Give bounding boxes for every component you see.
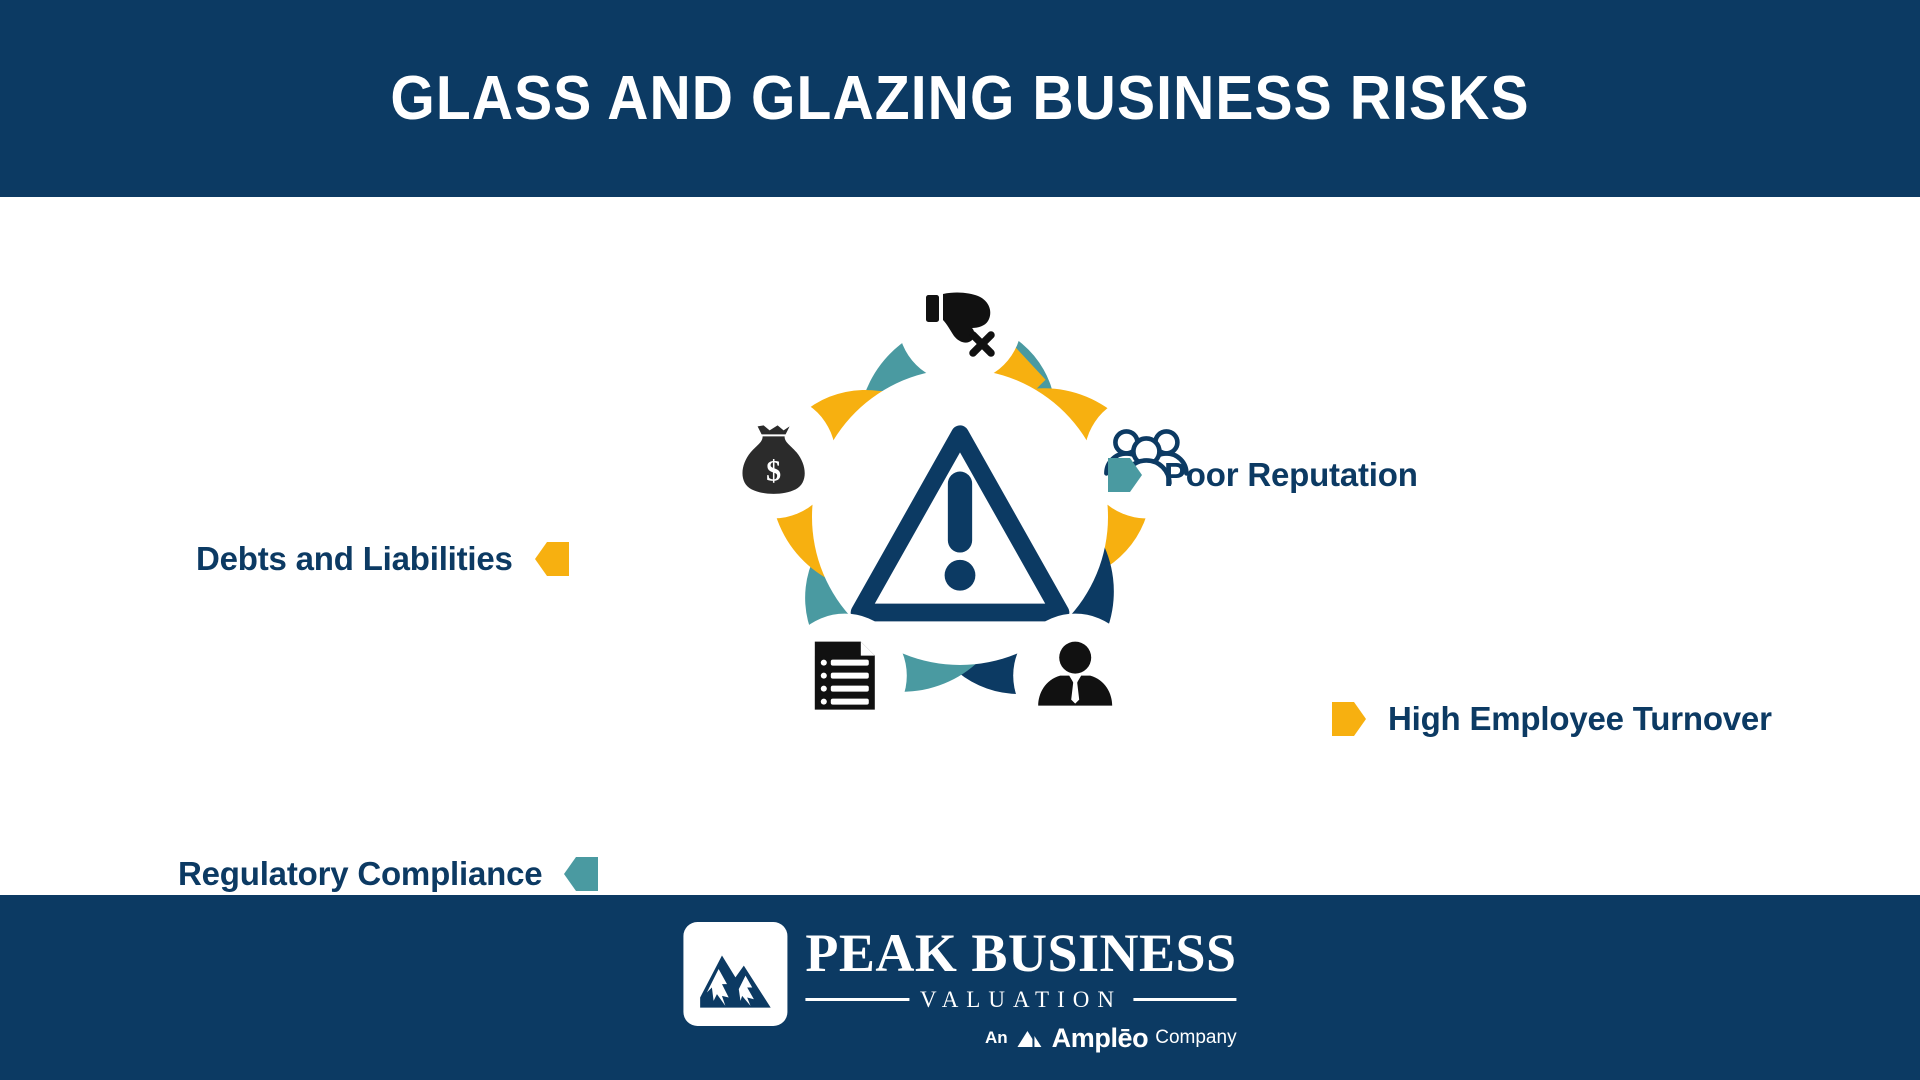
ampleo-row: An Amplēo Company — [805, 1023, 1236, 1054]
checklist-document-icon — [815, 642, 875, 710]
brand-sub: VALUATION — [920, 987, 1122, 1013]
logo-text-block: PEAK BUSINESS VALUATION An Amplēo Compan… — [805, 922, 1236, 1054]
label-turnover-text: High Employee Turnover — [1388, 697, 1772, 741]
marker-left-yellow-icon — [535, 540, 569, 578]
infographic-page: GLASS AND GLAZING BUSINESS RISKS — [0, 0, 1920, 1080]
diagram-stage: $ Debts and Liabilities Regulatory Compl… — [0, 197, 1920, 895]
risk-wheel-diagram: $ — [630, 187, 1290, 847]
ampleo-triangle-icon — [1015, 1026, 1045, 1050]
brand-sub-row: VALUATION — [805, 987, 1236, 1013]
ampleo-name: Amplēo — [1052, 1023, 1149, 1054]
label-high-employee-turnover[interactable]: High Employee Turnover — [1332, 697, 1772, 741]
label-regulatory-compliance[interactable]: Regulatory Compliance — [178, 852, 598, 896]
marker-left-teal-icon — [564, 855, 598, 893]
rule-right — [1133, 998, 1237, 1001]
footer-bar: PEAK BUSINESS VALUATION An Amplēo Compan… — [0, 895, 1920, 1080]
node-circle-project-delays — [1013, 614, 1137, 738]
label-debts-text: Debts and Liabilities — [196, 537, 513, 581]
ampleo-company-text: Company — [1155, 1027, 1236, 1049]
marker-right-yellow-icon — [1332, 700, 1366, 738]
label-debts-and-liabilities[interactable]: Debts and Liabilities — [196, 537, 569, 581]
ampleo-an-text: An — [985, 1028, 1008, 1048]
svg-text:$: $ — [766, 454, 781, 487]
rule-left — [805, 998, 909, 1001]
label-poor-reputation[interactable]: Poor Reputation — [1108, 453, 1418, 497]
page-title: GLASS AND GLAZING BUSINESS RISKS — [77, 0, 1843, 197]
label-reputation-text: Poor Reputation — [1164, 453, 1418, 497]
marker-right-teal-icon — [1108, 456, 1142, 494]
brand-name: PEAK BUSINESS — [805, 926, 1236, 980]
mountain-peak-icon — [683, 922, 787, 1026]
label-regulatory-text: Regulatory Compliance — [178, 852, 542, 896]
peak-business-valuation-logo: PEAK BUSINESS VALUATION An Amplēo Compan… — [683, 922, 1236, 1054]
